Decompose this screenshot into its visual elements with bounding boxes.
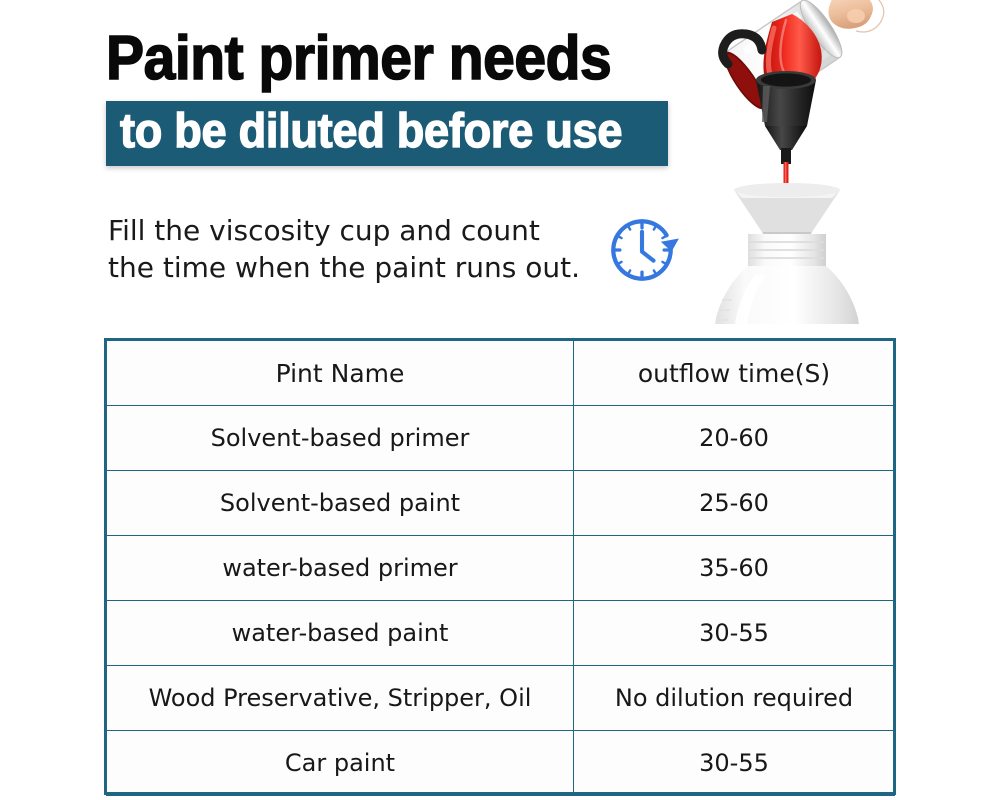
subtitle-line-2: the time when the paint runs out.	[108, 249, 578, 286]
column-header-outflow-time: outflow time(S)	[574, 341, 895, 406]
table-row: Car paint 30-55	[107, 731, 895, 796]
title-banner: to be diluted before use	[106, 101, 668, 166]
product-photo	[700, 0, 1000, 324]
headline-block: Paint primer needs to be diluted before …	[106, 28, 706, 166]
subtitle-block: Fill the viscosity cup and count the tim…	[108, 212, 578, 286]
cell-paint-name: Solvent-based paint	[107, 471, 574, 536]
cell-paint-name: Car paint	[107, 731, 574, 796]
cell-paint-name: Wood Preservative, Stripper, Oil	[107, 666, 574, 731]
page-title-line-2: to be diluted before use	[120, 108, 622, 156]
table-row: Solvent-based primer 20-60	[107, 406, 895, 471]
cell-outflow-time: 25-60	[574, 471, 895, 536]
cell-outflow-time: 35-60	[574, 536, 895, 601]
dilution-table: Pint Name outflow time(S) Solvent-based …	[106, 340, 895, 796]
subtitle-line-1: Fill the viscosity cup and count	[108, 212, 578, 249]
table-row: Wood Preservative, Stripper, Oil No dilu…	[107, 666, 895, 731]
cell-paint-name: Solvent-based primer	[107, 406, 574, 471]
table-body: Solvent-based primer 20-60 Solvent-based…	[107, 406, 895, 796]
page-title-line-1: Paint primer needs	[106, 28, 658, 90]
infographic-page: Paint primer needs to be diluted before …	[0, 0, 1000, 800]
cell-outflow-time: 20-60	[574, 406, 895, 471]
table-row: water-based paint 30-55	[107, 601, 895, 666]
table-row: Solvent-based paint 25-60	[107, 471, 895, 536]
cell-outflow-time: 30-55	[574, 601, 895, 666]
table-row: water-based primer 35-60	[107, 536, 895, 601]
clock-refresh-icon	[601, 209, 683, 291]
column-header-pint-name: Pint Name	[107, 341, 574, 406]
cell-outflow-time: 30-55	[574, 731, 895, 796]
table-header-row: Pint Name outflow time(S)	[107, 341, 895, 406]
cell-paint-name: water-based primer	[107, 536, 574, 601]
cell-paint-name: water-based paint	[107, 601, 574, 666]
cell-outflow-time: No dilution required	[574, 666, 895, 731]
